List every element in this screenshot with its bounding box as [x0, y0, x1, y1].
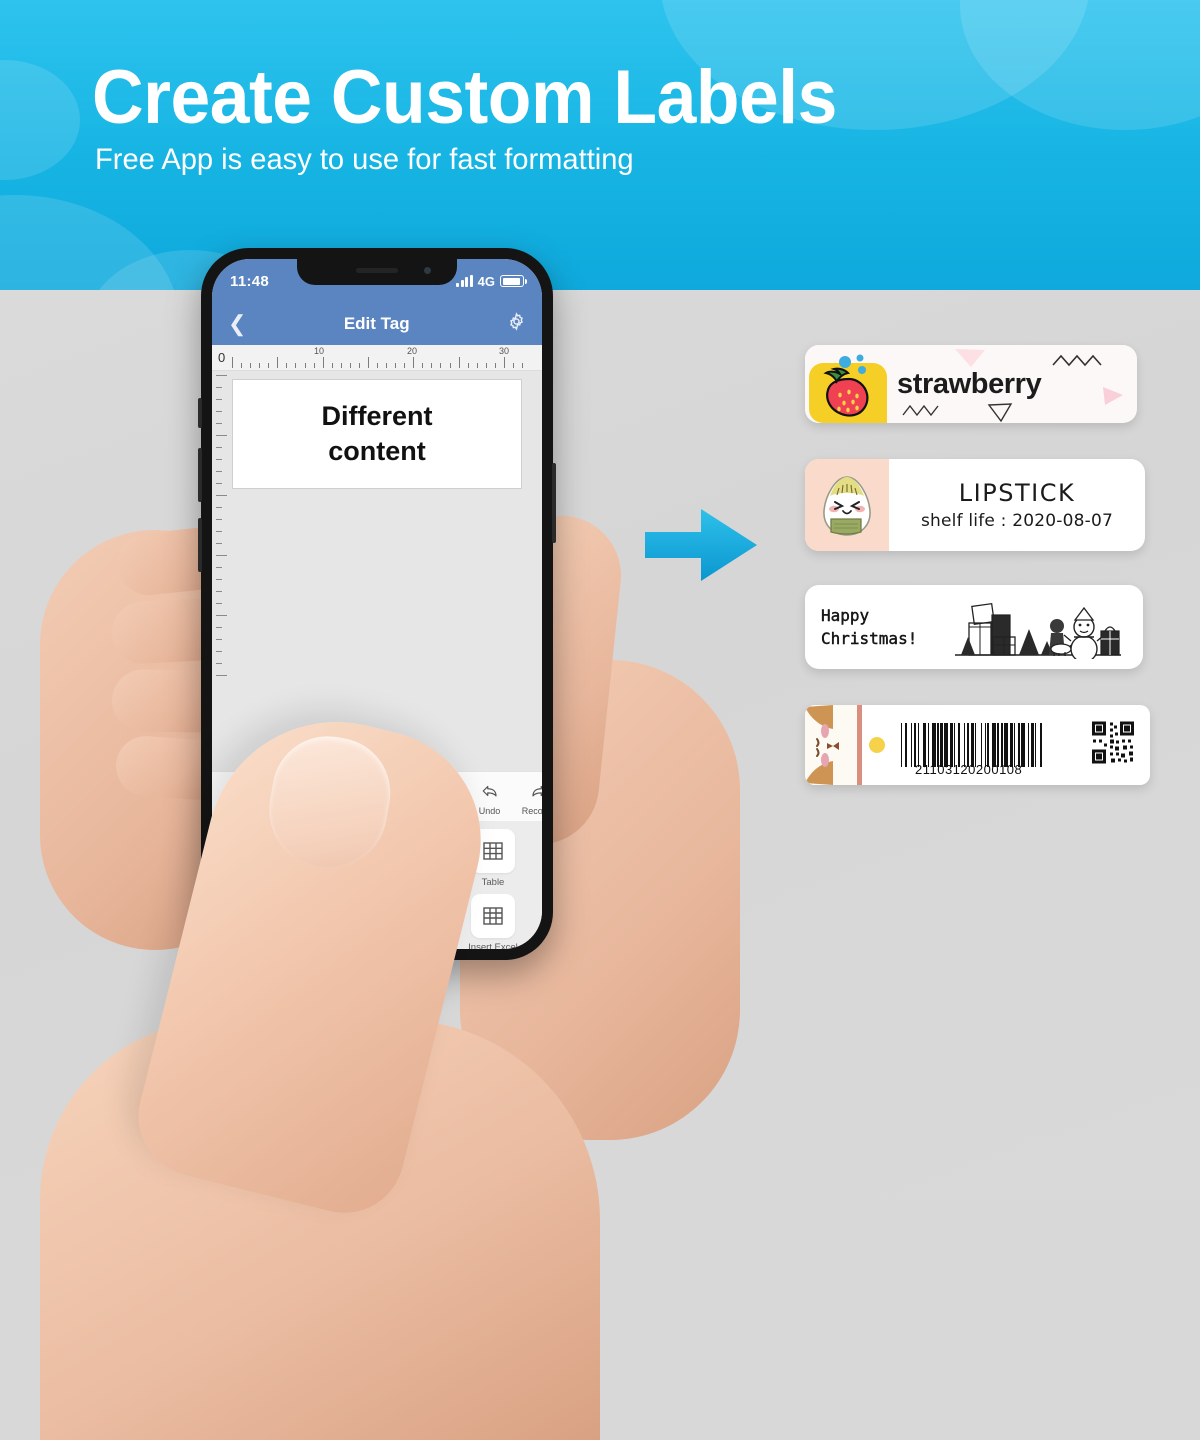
- page-title: Create Custom Labels: [92, 58, 837, 138]
- label-card-strawberry: strawberry: [805, 345, 1137, 423]
- barcode-number: 21103120200108: [915, 762, 1022, 777]
- mute-switch: [198, 398, 202, 428]
- label-text: strawberry: [891, 345, 1137, 423]
- app-nav-bar: ❮ Edit Tag: [212, 303, 542, 345]
- strawberry-label-text: strawberry: [897, 368, 1041, 401]
- barcode-block: 21103120200108: [887, 705, 1150, 785]
- qr-code-icon: [1090, 720, 1136, 771]
- volume-up-button: [198, 448, 202, 502]
- ruler-mark-20: 20: [407, 346, 417, 356]
- cloud-shape: [960, 0, 1200, 130]
- ruler-mark-30: 30: [499, 346, 509, 356]
- signal-bars-icon: [456, 275, 473, 287]
- thumbnail: [260, 728, 399, 878]
- battery-full-icon: [500, 275, 524, 287]
- page-subtitle: Free App is easy to use for fast formatt…: [95, 143, 634, 177]
- status-bar: 11:48 4G: [212, 259, 542, 303]
- network-type-label: 4G: [478, 274, 495, 289]
- christmas-line-1: Happy: [821, 604, 961, 627]
- chevron-left-icon[interactable]: ❮: [228, 313, 246, 335]
- cloud-shape: [0, 60, 80, 180]
- ruler-mark-0: 0: [218, 350, 225, 365]
- lipstick-subtitle: shelf life : 2020-08-07: [921, 511, 1113, 531]
- gear-icon[interactable]: [507, 312, 526, 336]
- ruler-mark-10: 10: [314, 346, 324, 356]
- christmas-text-block: Happy Christmas!: [821, 604, 961, 650]
- notch: [297, 259, 457, 285]
- christmas-line-2: Christmas!: [821, 627, 961, 650]
- toolbar-label: Recover: [514, 806, 542, 816]
- earpiece-speaker: [356, 268, 398, 273]
- phone-in-hands-photo: 11:48 4G ❮ Edit Tag: [60, 230, 700, 1200]
- insert-label: Insert Excel: [456, 942, 530, 949]
- ruler-ticks: [232, 356, 542, 368]
- lipstick-text-block: LIPSTICK shelf life : 2020-08-07: [889, 459, 1145, 551]
- label-card-lipstick: LIPSTICK shelf life : 2020-08-07: [805, 459, 1145, 551]
- label-canvas-area[interactable]: Different content ▾: [212, 371, 542, 771]
- label-preview-box[interactable]: Different content: [232, 379, 522, 489]
- horizontal-ruler: 0 10 20 30: [212, 345, 542, 371]
- spreadsheet-icon: [471, 894, 515, 938]
- lipstick-title: LIPSTICK: [959, 479, 1075, 507]
- front-camera: [424, 267, 431, 274]
- canvas-text-line1: Different: [321, 401, 432, 431]
- onigiri-character-icon: [805, 459, 889, 551]
- barcode-icon: [901, 723, 1045, 767]
- toolbar-item-recover[interactable]: Recover: [514, 779, 542, 816]
- status-time: 11:48: [230, 273, 269, 290]
- redo-arrow-icon: [514, 779, 542, 803]
- volume-down-button: [198, 518, 202, 572]
- strawberry-icon: [805, 345, 891, 423]
- nav-title: Edit Tag: [344, 314, 410, 334]
- label-card-barcode: 21103120200108: [805, 705, 1150, 785]
- power-button: [552, 463, 556, 543]
- label-samples-list: strawberry LIPSTICK: [805, 345, 1150, 785]
- canvas-text-line2: content: [328, 436, 426, 466]
- christmas-scene-icon: [961, 597, 1127, 657]
- vertical-ruler: [214, 371, 230, 771]
- label-card-christmas: Happy Christmas!: [805, 585, 1143, 669]
- cat-face-icon: [805, 705, 887, 785]
